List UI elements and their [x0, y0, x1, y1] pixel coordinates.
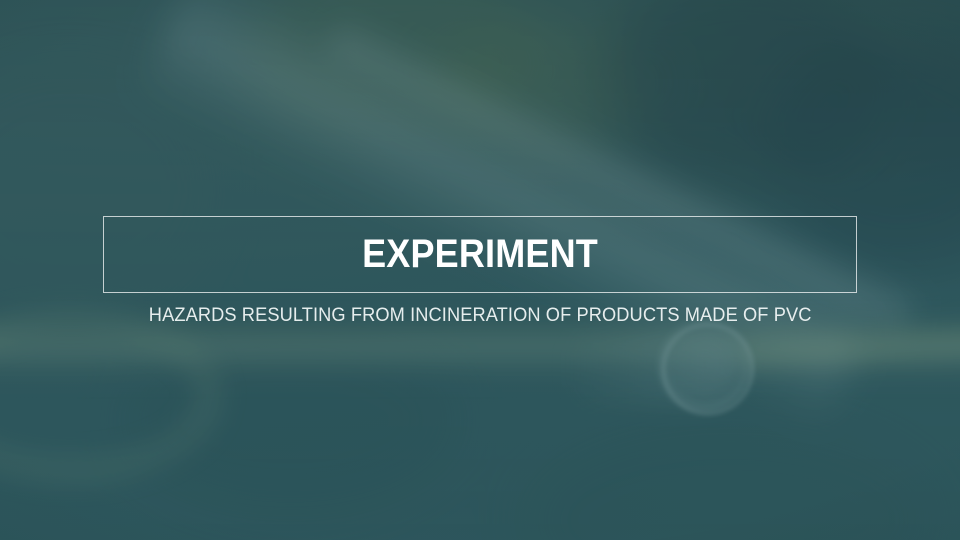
title-frame-border: EXPERIMENT [103, 216, 857, 293]
slide-subtitle: HAZARDS RESULTING FROM INCINERATION OF P… [149, 306, 812, 325]
slide-content: EXPERIMENT HAZARDS RESULTING FROM INCINE… [0, 0, 960, 540]
slide-title: EXPERIMENT [362, 234, 598, 274]
title-slide: EXPERIMENT HAZARDS RESULTING FROM INCINE… [0, 0, 960, 540]
